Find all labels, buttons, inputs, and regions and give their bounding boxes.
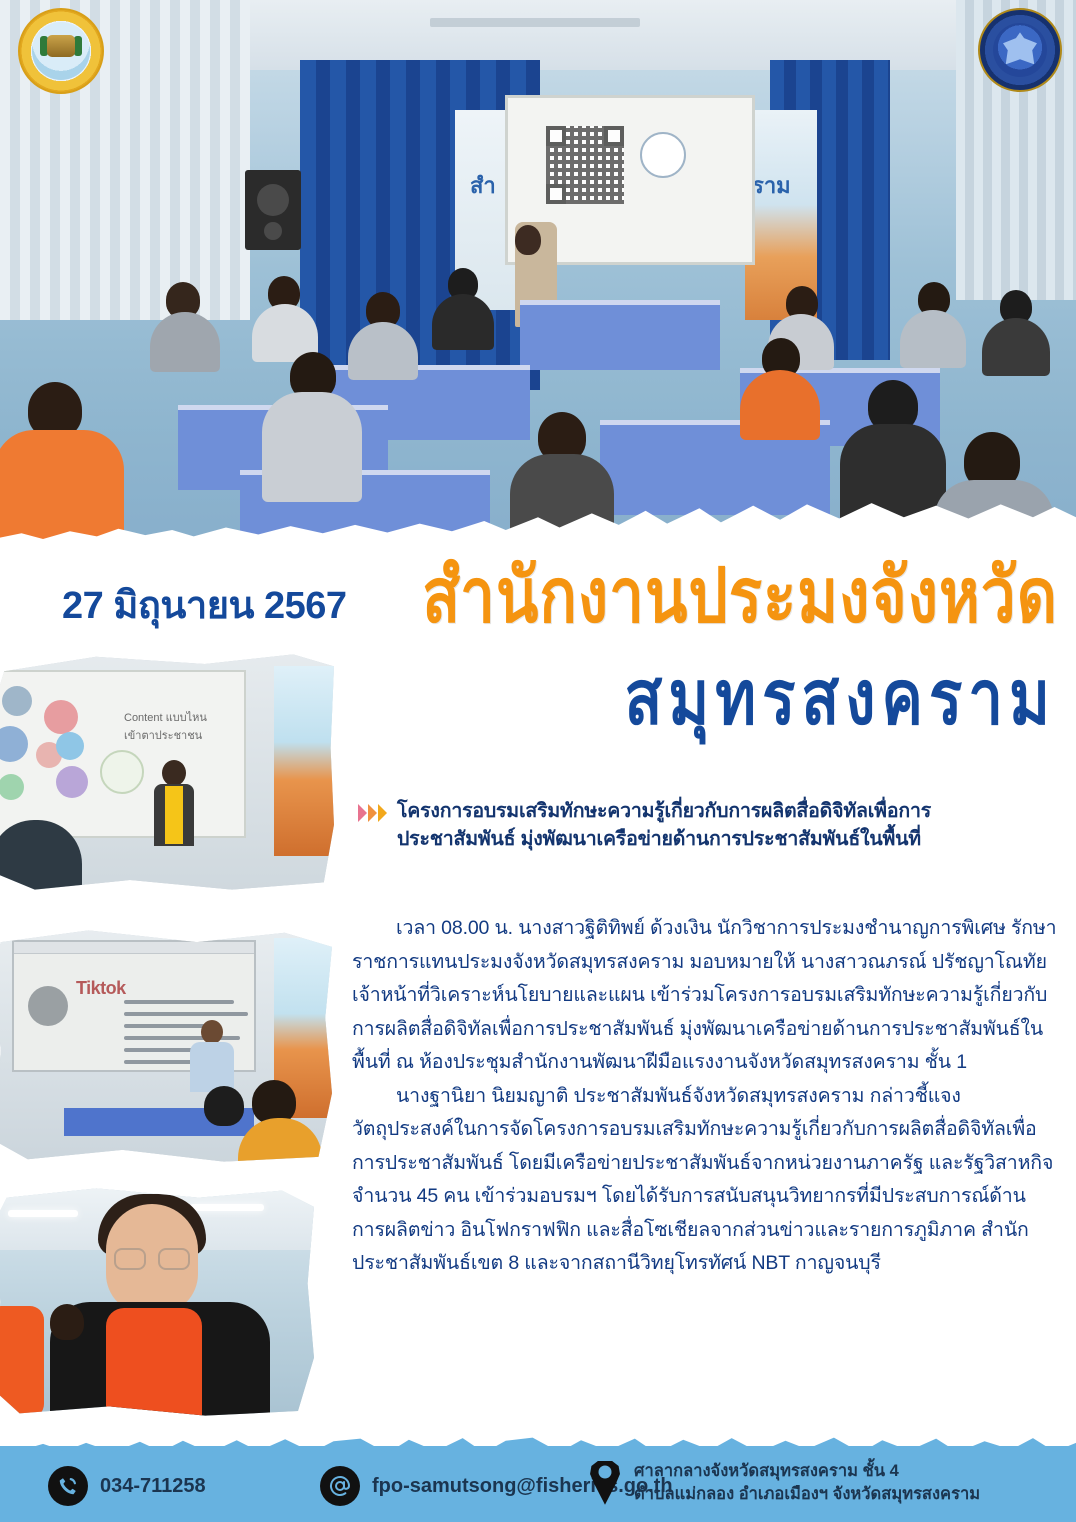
- heading-row: โครงการอบรมเสริมทักษะความรู้เกี่ยวกับการ…: [358, 798, 1058, 853]
- photo-speaker-tiktok-slide: Tiktok: [0, 928, 332, 1164]
- attendee-torso: [982, 318, 1050, 376]
- eyeglasses-icon: [114, 1248, 190, 1270]
- footer-torn-edge: [0, 1434, 1076, 1460]
- banner-text-right: ราม: [752, 168, 791, 203]
- ceiling-light: [8, 1210, 78, 1217]
- attendee-torso: [150, 312, 220, 372]
- attendee-torso: [262, 392, 362, 502]
- attendee-torso: [432, 294, 494, 350]
- speaker-person: [190, 1020, 234, 1090]
- phone-number: 034-711258: [100, 1475, 206, 1498]
- attendee-torso: [740, 370, 820, 440]
- whatsapp-bubble-icon: [0, 774, 24, 800]
- qr-code-on-screen: [546, 126, 624, 204]
- address-text: ศาลากลางจังหวัดสมุทรสงคราม ชั้น 4 ตำบลแม…: [634, 1460, 980, 1506]
- youtube-bubble-icon: [44, 700, 78, 734]
- hero-photo: สำ ราม: [0, 0, 1076, 560]
- at-icon: [320, 1466, 360, 1506]
- project-heading: โครงการอบรมเสริมทักษะความรู้เกี่ยวกับการ…: [397, 798, 931, 853]
- location-pin-icon: [588, 1461, 622, 1505]
- bullet-line: [124, 1012, 248, 1016]
- fisheries-logo-bubble-icon: [100, 750, 144, 794]
- slide-social-media: Content แบบไหน เข้าตาประชาชน: [0, 670, 246, 838]
- speaker-person: [154, 760, 194, 846]
- project-heading-line2: ประชาสัมพันธ์ มุ่งพัฒนาเครือข่ายด้านการป…: [397, 826, 931, 854]
- phone-icon: [48, 1466, 88, 1506]
- slide-caption: Content แบบไหน เข้าตาประชาชน: [124, 710, 207, 745]
- photo-speaker-social-content-slide: Content แบบไหน เข้าตาประชาชน: [0, 652, 334, 892]
- pa-speaker: [245, 170, 301, 250]
- instagram-bubble-icon: [56, 766, 88, 798]
- attendee-head: [204, 1086, 244, 1126]
- slide-caption-line2: เข้าตาประชาชน: [124, 728, 207, 746]
- address-line2: ตำบลแม่กลอง อำเภอเมืองฯ จังหวัดสมุทรสงคร…: [634, 1483, 980, 1506]
- footer-address: ศาลากลางจังหวัดสมุทรสงคราม ชั้น 4 ตำบลแม…: [588, 1460, 980, 1506]
- organization-title-line1: สำนักงานประมงจังหวัด: [0, 558, 1058, 635]
- foreground-arm: [0, 1306, 44, 1418]
- linkedin-bubble-icon: [2, 686, 32, 716]
- twitter-bubble-icon: [56, 732, 84, 760]
- browser-toolbar: [14, 942, 254, 954]
- footer-contact-bar: 034-711258 fpo-samutsong@fisheries.go.th…: [0, 1446, 1076, 1522]
- article-paragraph-1: เวลา 08.00 น. นางสาวฐิติทิพย์ ด้วงเงิน น…: [352, 912, 1058, 1080]
- department-of-fisheries-seal-icon: [978, 8, 1062, 92]
- background-attendee-head: [50, 1304, 84, 1340]
- slide-title-tiktok: Tiktok: [76, 978, 126, 999]
- project-heading-line1: โครงการอบรมเสริมทักษะความรู้เกี่ยวกับการ…: [397, 798, 931, 826]
- tiktok-logo-icon: [28, 986, 68, 1026]
- ceiling-light: [190, 1204, 264, 1211]
- footer-phone[interactable]: 034-711258: [48, 1466, 206, 1506]
- triple-chevron-icon: [358, 804, 387, 822]
- bullet-line: [124, 1000, 234, 1004]
- samut-songkhram-provincial-seal-icon: [18, 8, 104, 94]
- attendee-torso: [900, 310, 966, 368]
- facebook-bubble-icon: [0, 726, 28, 762]
- article-paragraph-2: นางฐานิยา นิยมญาติ ประชาสัมพันธ์จังหวัดส…: [352, 1080, 1058, 1281]
- ceiling-light-strip: [430, 18, 640, 27]
- address-line1: ศาลากลางจังหวัดสมุทรสงคราม ชั้น 4: [634, 1460, 980, 1483]
- orange-polo-shirt: [106, 1308, 202, 1418]
- banner-text-left: สำ: [470, 168, 496, 203]
- photo-participant-portrait: [0, 1186, 314, 1418]
- banner-in-photo: [274, 666, 334, 856]
- article-body: เวลา 08.00 น. นางสาวฐิติทิพย์ ด้วงเงิน น…: [352, 912, 1058, 1281]
- fisheries-logo-on-screen: [640, 132, 686, 178]
- slide-caption-line1: Content แบบไหน: [124, 710, 207, 728]
- head-table: [520, 300, 720, 370]
